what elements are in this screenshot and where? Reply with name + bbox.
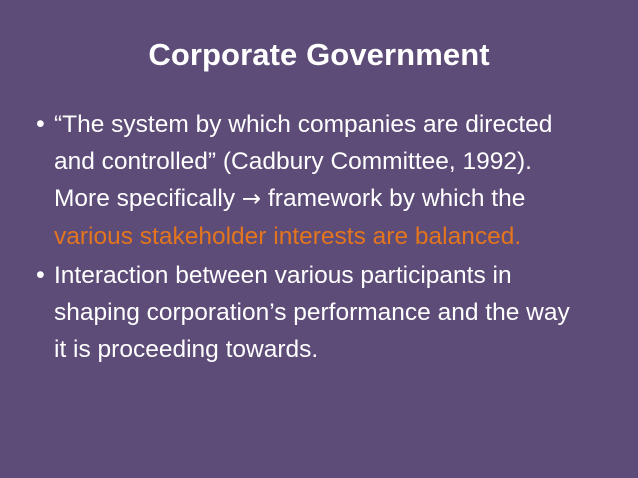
bullet-segment-text: framework by which the [261, 185, 525, 212]
bullet-segment-highlight: various stakeholder interests are balanc… [54, 223, 521, 250]
bullet-text-2: Interaction between various participants… [54, 257, 586, 368]
slide-body-content: • “The system by which companies are dir… [30, 106, 608, 370]
list-item: • “The system by which companies are dir… [30, 106, 608, 255]
bullet-text-1: “The system by which companies are direc… [54, 106, 586, 255]
bullet-marker-icon: • [30, 106, 54, 143]
right-arrow-icon: → [242, 186, 261, 212]
presentation-slide: Corporate Government • “The system by wh… [0, 0, 638, 478]
page-title: Corporate Government [0, 36, 638, 74]
list-item: • Interaction between various participan… [30, 257, 608, 368]
bullet-marker-icon: • [30, 257, 54, 294]
bullet-segment-text: Interaction between various participants… [54, 262, 570, 363]
